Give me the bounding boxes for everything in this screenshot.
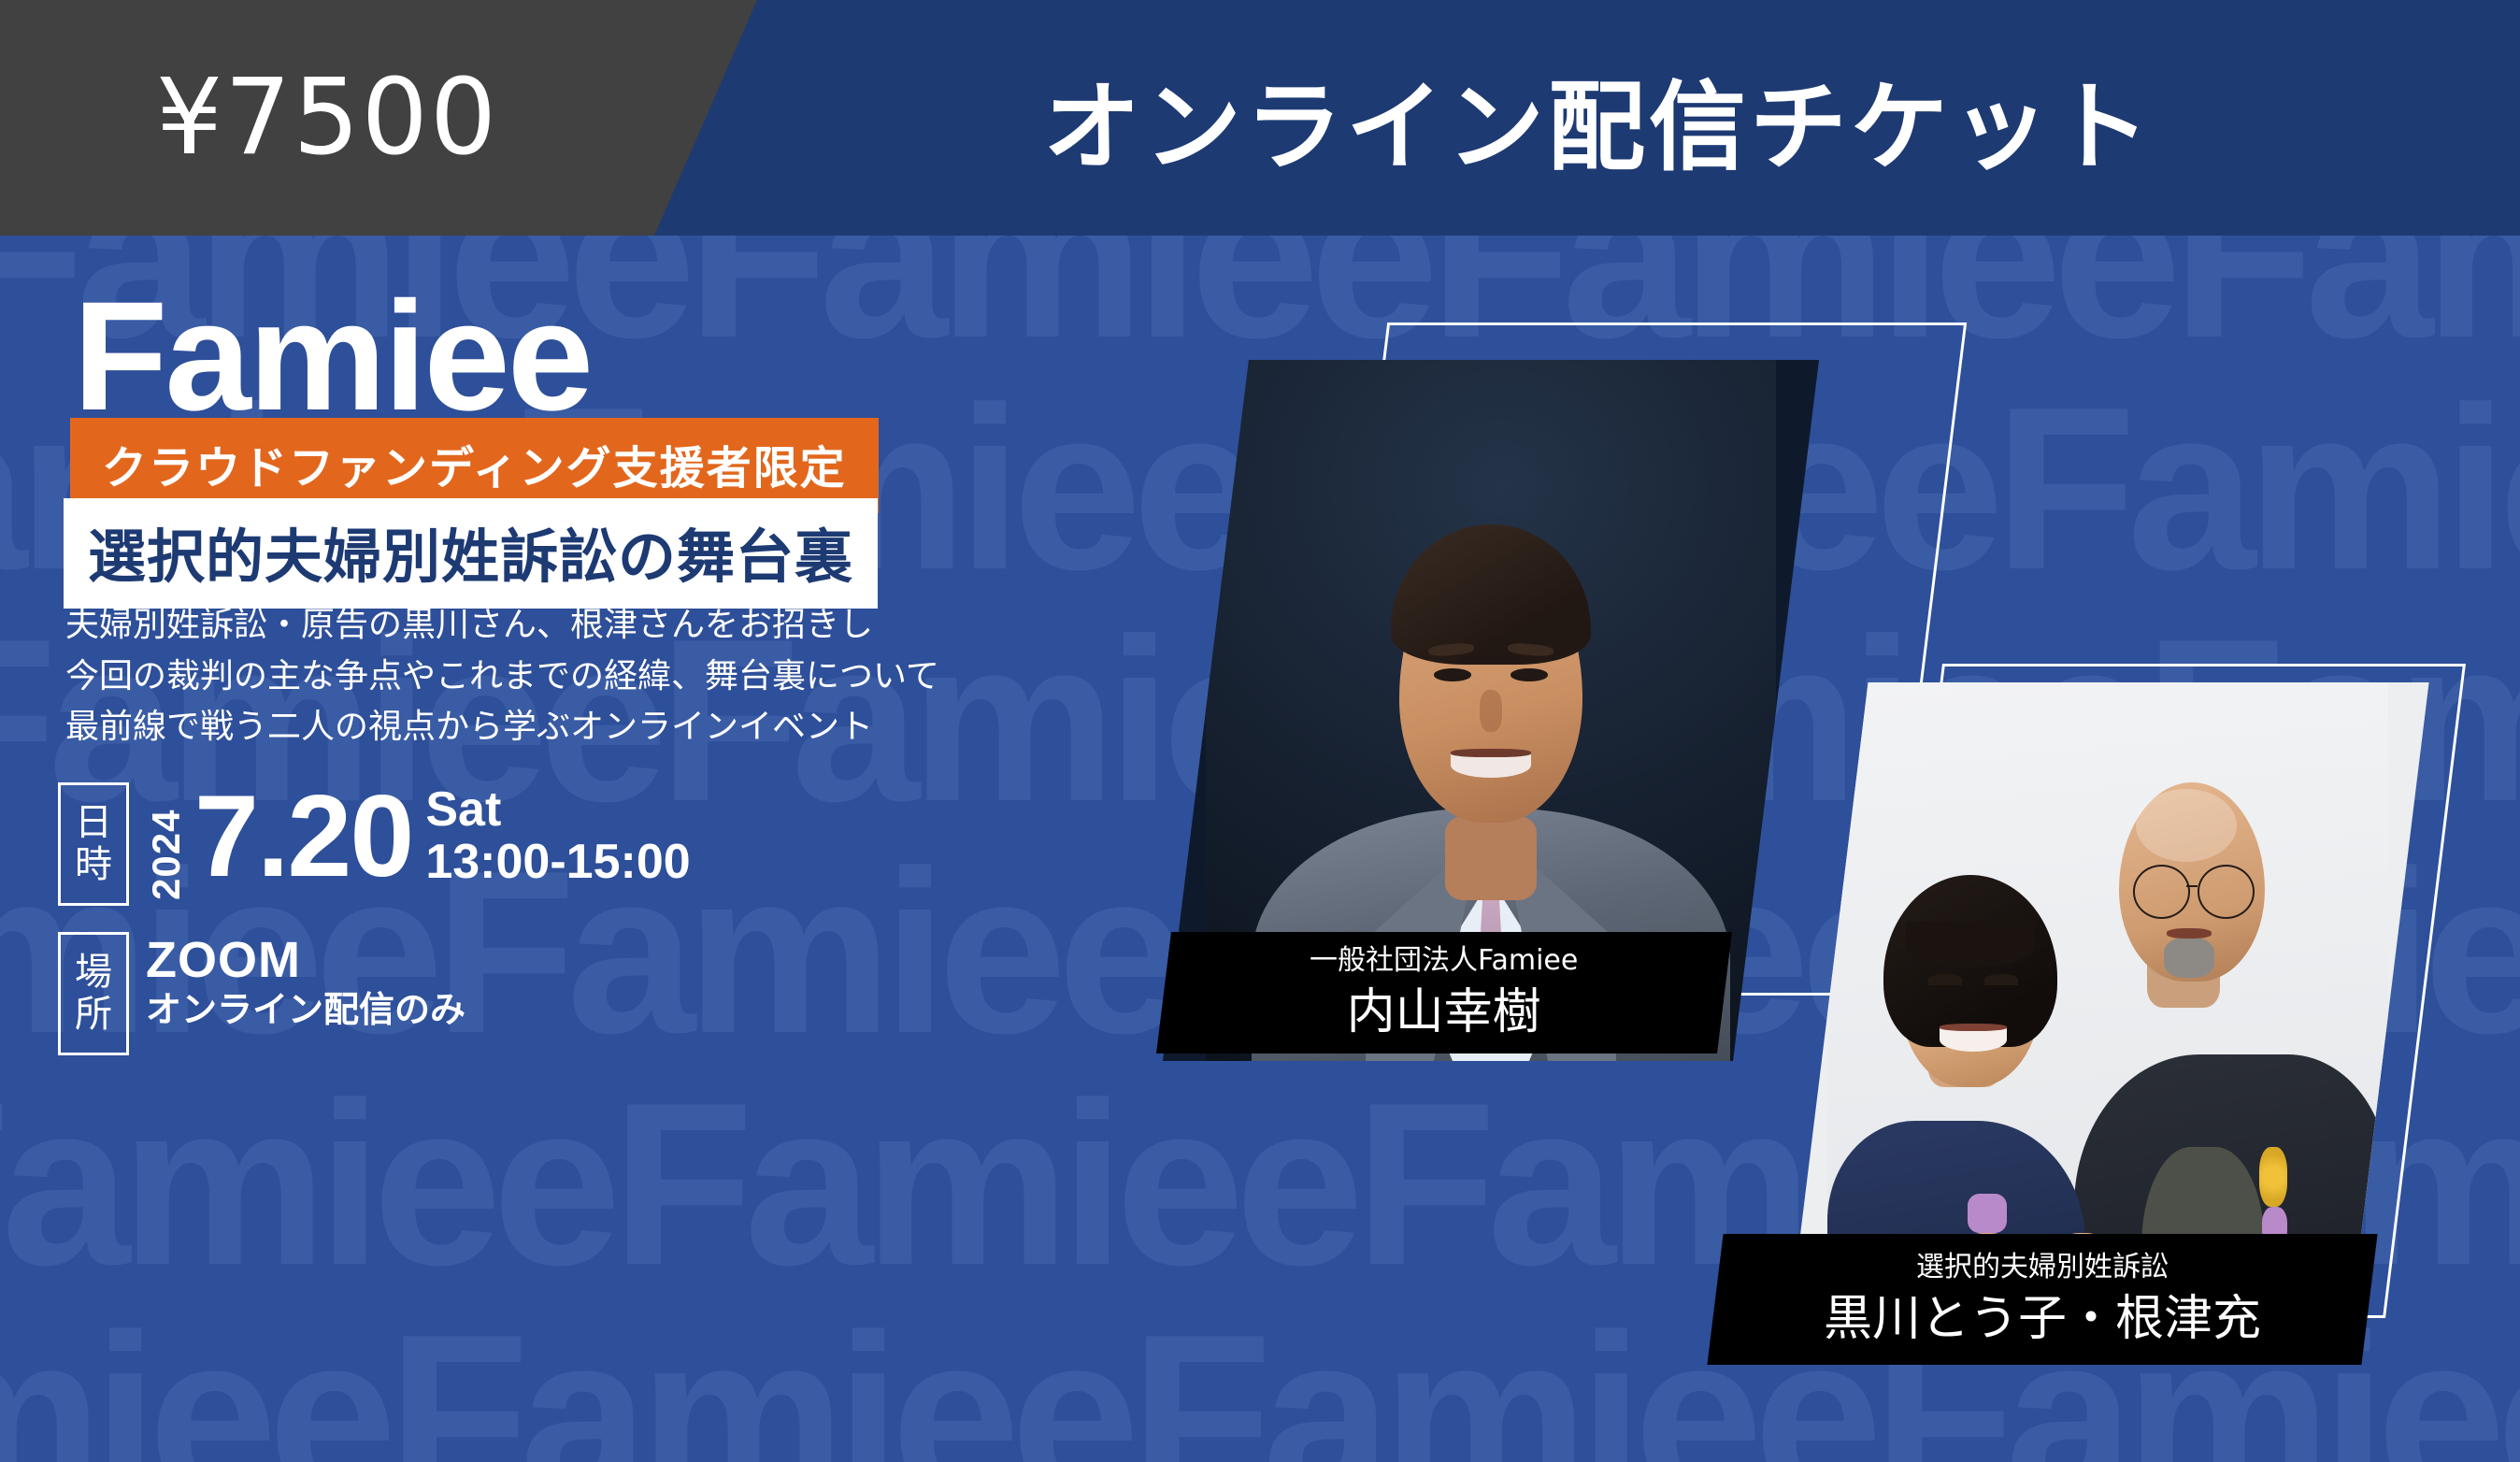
speaker-2-name: 黒川とう子・根津充 bbox=[1824, 1290, 2261, 1348]
venue-label-char-2: 所 bbox=[75, 994, 112, 1036]
description-line-2: 今回の裁判の主な争点やこれまでの経緯、舞台裏について bbox=[65, 652, 939, 703]
day-of-week: Sat bbox=[425, 784, 690, 836]
speaker-1-org: 一般社団法人Famiee bbox=[1310, 944, 1578, 978]
top-band: ¥7500 オンライン配信チケット bbox=[0, 0, 2520, 236]
event-poster: FamieeFamieeFamieeFamieeFamiee FamieeFam… bbox=[0, 0, 2520, 1462]
description-line-1: 夫婦別姓訴訟・原告の黒川さん、根津さんをお招きし bbox=[65, 600, 939, 652]
left-content-column: Famiee Café vol.3 クラウドファンディング支援者限定 選択的夫婦… bbox=[0, 236, 1178, 1462]
date-label-box: 日 時 bbox=[58, 782, 129, 906]
ticket-type-label: オンライン配信チケット bbox=[804, 0, 2393, 236]
venue-text: ZOOM オンライン配信のみ bbox=[146, 932, 465, 1033]
speaker-caption-1: 一般社団法人Famiee 内山幸樹 bbox=[1156, 932, 1732, 1053]
year-vertical: 2024 bbox=[144, 782, 189, 900]
speaker-2-org: 選択的夫婦別姓訴訟 bbox=[1824, 1251, 2261, 1284]
venue-label-char-1: 場 bbox=[75, 952, 112, 994]
date-time-row: 日 時 2024 7.20 Sat 13:00-15:00 bbox=[58, 782, 691, 906]
speaker-1-name: 内山幸樹 bbox=[1310, 983, 1578, 1041]
subtitle-bar: 選択的夫婦別姓訴訟の舞台裏 bbox=[64, 498, 878, 609]
description-line-3: 最前線で戦う二人の視点から学ぶオンラインイベント bbox=[65, 702, 939, 753]
speaker-caption-2: 選択的夫婦別姓訴訟 黒川とう子・根津充 bbox=[1707, 1234, 2377, 1365]
day-time-block: Sat 13:00-15:00 bbox=[425, 784, 690, 888]
event-hours: 13:00-15:00 bbox=[425, 836, 690, 888]
price-label: ¥7500 bbox=[0, 0, 654, 236]
date-label-char-1: 日 bbox=[75, 802, 112, 844]
date-label-char-2: 時 bbox=[75, 844, 112, 886]
venue-label-box: 場 所 bbox=[58, 932, 129, 1055]
event-date: 7.20 bbox=[194, 779, 412, 895]
venue-row: 場 所 ZOOM オンライン配信のみ bbox=[58, 932, 465, 1055]
venue-platform: ZOOM bbox=[146, 932, 465, 988]
description-text: 夫婦別姓訴訟・原告の黒川さん、根津さんをお招きし 今回の裁判の主な争点やこれまで… bbox=[65, 600, 939, 753]
venue-note: オンライン配信のみ bbox=[146, 988, 465, 1033]
